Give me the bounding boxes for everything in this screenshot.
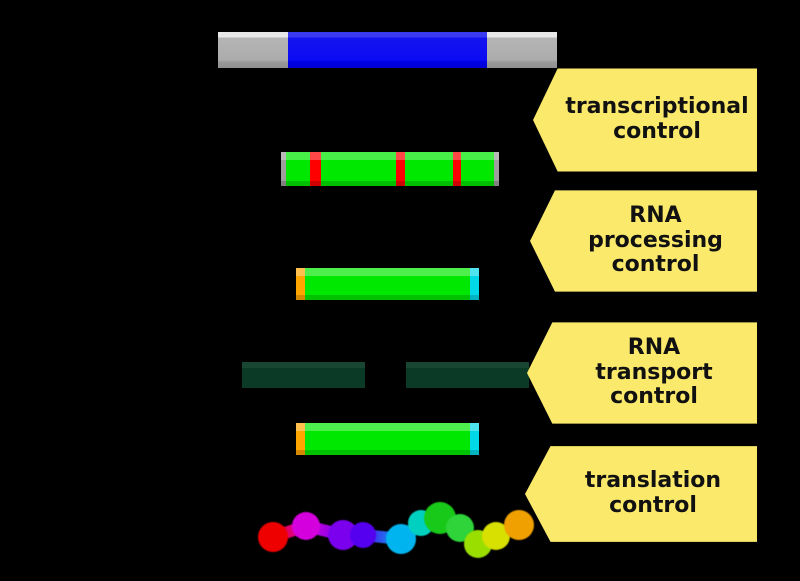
polypeptide-chain [250, 500, 530, 570]
pre-mrna-cap-right [494, 152, 499, 186]
mrna-cytosol-coding-body [305, 423, 470, 455]
callout-rna-processing-control[interactable]: RNA processing control [530, 186, 757, 296]
amino-acid-residue [258, 522, 288, 552]
callout-translation-control[interactable]: translation control [525, 442, 757, 546]
pre-mrna-intron-1 [310, 152, 321, 186]
mrna-nuclear-3-prime-tail [470, 268, 479, 300]
nuclear-envelope-right-segment [406, 362, 529, 388]
mature-mrna-cytosol-bar [296, 423, 479, 455]
diagram-canvas: transcriptional control RNA processing c… [0, 0, 800, 581]
dna-flanking-left-segment [218, 32, 288, 68]
callout-rna-transport-control[interactable]: RNA transport control [527, 318, 757, 428]
mrna-nuclear-coding-body [305, 268, 470, 300]
mature-mrna-nuclear-bar [296, 268, 479, 300]
pre-mrna-transcript-bar [281, 152, 499, 186]
pre-mrna-exon-2 [321, 152, 396, 186]
mrna-nuclear-5-prime-cap [296, 268, 305, 300]
callout-transcriptional-control[interactable]: transcriptional control [533, 64, 757, 176]
pre-mrna-intron-3 [453, 152, 461, 186]
pre-mrna-exon-4 [461, 152, 494, 186]
mrna-cytosol-5-prime-cap [296, 423, 305, 455]
pre-mrna-exon-3 [405, 152, 453, 186]
callout-rna-processing-control-label: RNA processing control [554, 204, 733, 279]
amino-acid-residue [292, 512, 320, 540]
amino-acid-residue [350, 522, 376, 548]
dna-gene-bar [218, 32, 557, 68]
dna-flanking-right-segment [487, 32, 557, 68]
pre-mrna-intron-2 [396, 152, 405, 186]
callout-translation-control-label: translation control [551, 469, 731, 519]
dna-coding-region-segment [288, 32, 487, 68]
amino-acid-residue [504, 510, 534, 540]
pre-mrna-exon-1 [286, 152, 310, 186]
nuclear-envelope-left-segment [242, 362, 365, 388]
callout-rna-transport-control-label: RNA transport control [561, 336, 722, 411]
mrna-cytosol-3-prime-tail [470, 423, 479, 455]
callout-transcriptional-control-label: transcriptional control [531, 95, 758, 145]
